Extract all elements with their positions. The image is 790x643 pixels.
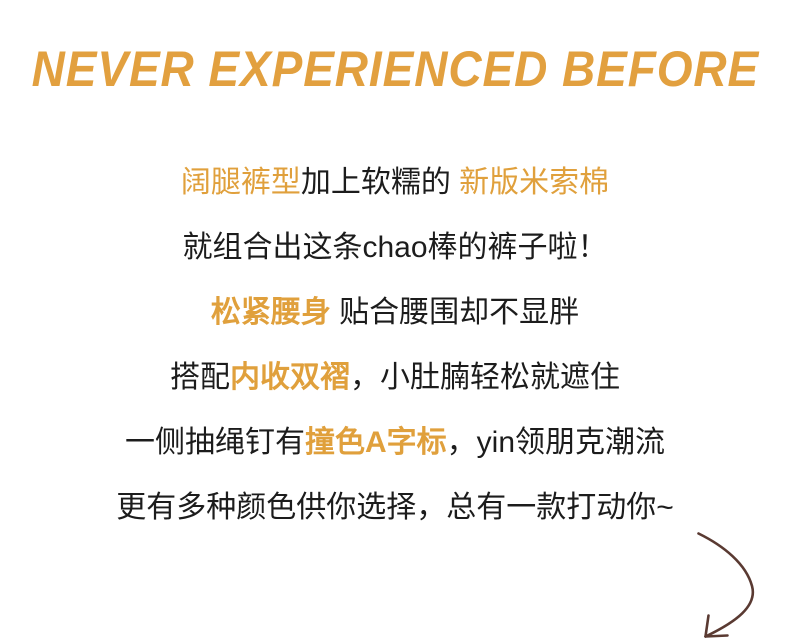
copy-segment: ，yin领朋克潮流 [447, 426, 665, 459]
copy-segment: 贴合腰围却不显胖 [331, 296, 579, 329]
promo-copy-block: 阔腿裤型加上软糯的 新版米索棉 就组合出这条chao棒的裤子啦！ 松紧腰身 贴合… [0, 150, 790, 540]
copy-segment: 加上软糯的 [301, 166, 459, 199]
copy-segment: 撞色A字标 [305, 426, 447, 459]
copy-line-6: 更有多种颜色供你选择，总有一款打动你~ [0, 475, 790, 540]
copy-line-2: 就组合出这条chao棒的裤子啦！ [0, 215, 790, 280]
copy-line-1: 阔腿裤型加上软糯的 新版米索棉 [0, 150, 790, 215]
page-title: NEVER EXPERIENCED BEFORE [32, 40, 759, 98]
copy-segment: 就组合出这条chao棒的裤子啦！ [182, 231, 607, 264]
copy-segment: 阔腿裤型 [181, 166, 301, 199]
copy-segment: 新版米索棉 [459, 166, 609, 199]
copy-segment: 更有多种颜色供你选择，总有一款打动你~ [116, 491, 674, 524]
copy-line-3: 松紧腰身 贴合腰围却不显胖 [0, 280, 790, 345]
copy-line-4: 搭配内收双褶，小肚腩轻松就遮住 [0, 345, 790, 410]
copy-line-5: 一侧抽绳钉有撞色A字标，yin领朋克潮流 [0, 410, 790, 475]
promo-banner: NEVER EXPERIENCED BEFORE 阔腿裤型加上软糯的 新版米索棉… [0, 0, 790, 643]
copy-segment: ，小肚腩轻松就遮住 [350, 361, 620, 394]
copy-segment: 一侧抽绳钉有 [125, 426, 305, 459]
copy-segment: 内收双褶 [230, 361, 350, 394]
copy-segment: 松紧腰身 [211, 296, 331, 329]
copy-segment: 搭配 [170, 361, 230, 394]
